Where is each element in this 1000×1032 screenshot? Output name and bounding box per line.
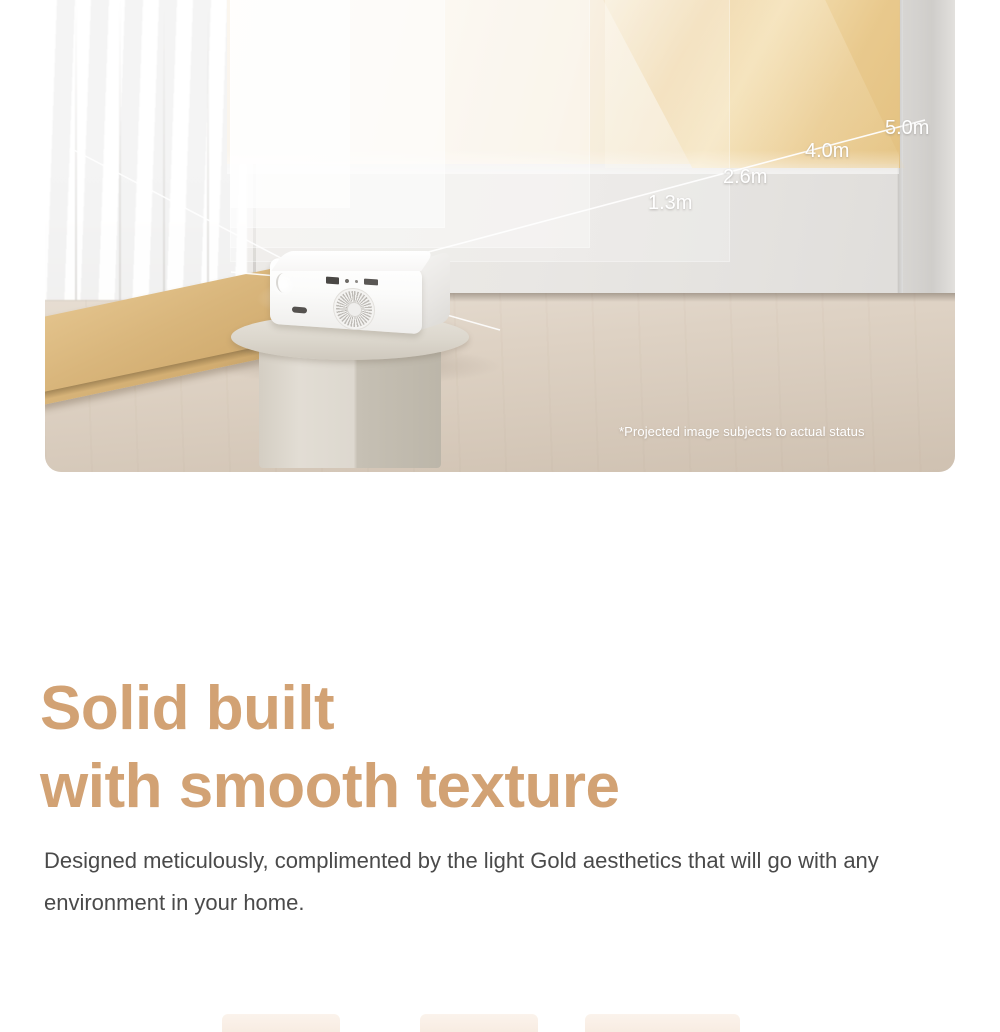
hdmi-port-icon [326,277,339,285]
preview-card-2 [420,1014,538,1032]
hero-footnote: *Projected image subjects to actual stat… [619,424,865,439]
projector-device [270,255,450,351]
preview-card-3 [585,1014,740,1032]
section-body-copy: Designed meticulously, complimented by t… [44,840,949,924]
projector-lens-ring [276,272,292,293]
projection-beam-lines [45,0,955,472]
audio-jack-icon [345,279,349,283]
distance-label-5-0m: 5.0m [885,117,929,140]
projector-top-face [271,251,434,271]
usb-port-icon [364,279,378,286]
hero-product-image: 1.3m 2.6m 4.0m 5.0m *Projected image sub… [45,0,955,472]
distance-label-2-6m: 2.6m [723,166,767,189]
section-headline: Solid built with smooth texture [40,670,940,826]
front-port-icon [292,306,307,313]
distance-label-4-0m: 4.0m [805,140,849,163]
fan-hub-icon [348,303,361,317]
indicator-dot-icon [355,280,358,283]
distance-label-1-3m: 1.3m [648,192,692,215]
next-section-preview [0,1014,1000,1032]
preview-card-1 [222,1014,340,1032]
